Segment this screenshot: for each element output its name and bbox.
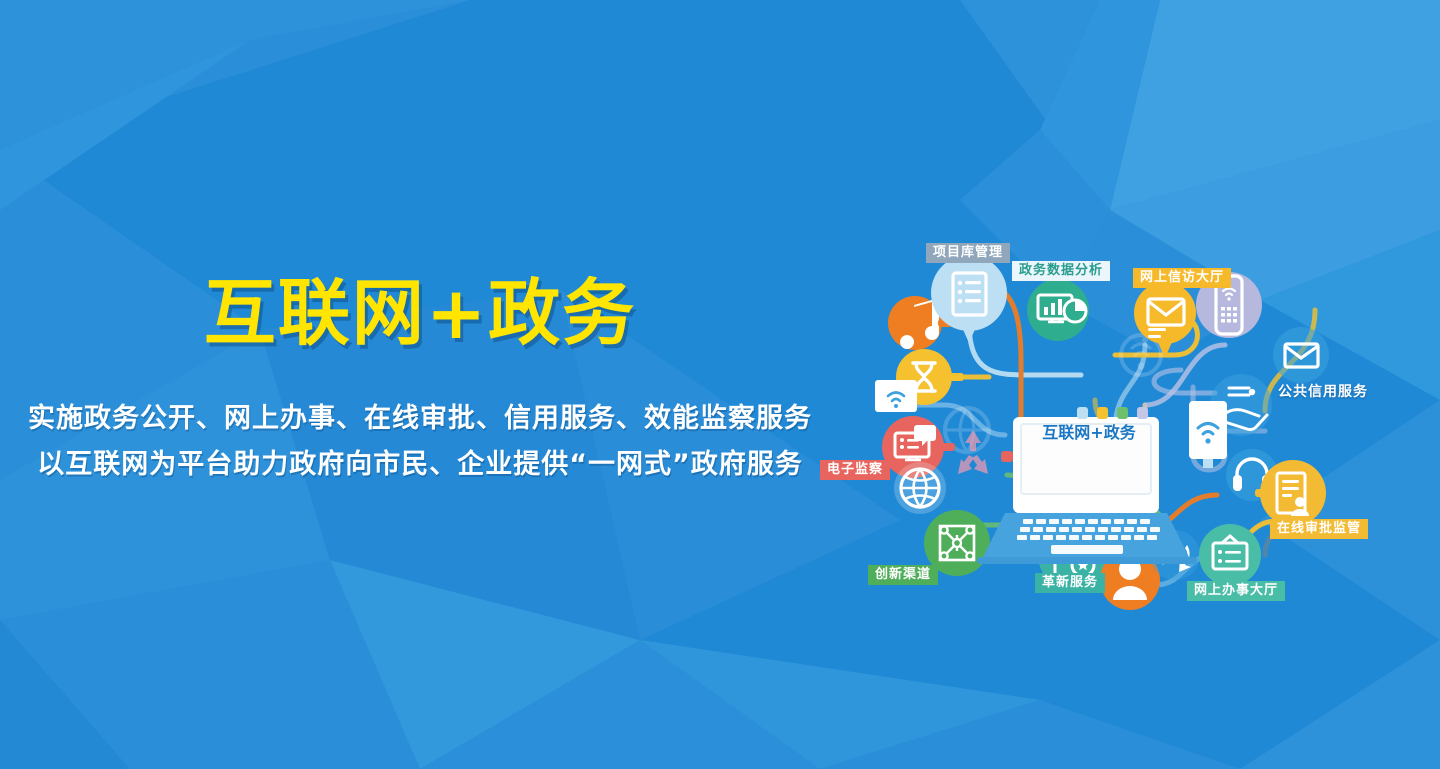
wifi-card-icon: [875, 380, 917, 412]
page-title: 互联网+政务: [0, 276, 840, 352]
mail-icon: [1273, 327, 1329, 383]
laptop-screen-caption: 互联网+政务: [1024, 419, 1154, 443]
wifi-tablet-icon: [1189, 401, 1227, 468]
label-project-library: 项目库管理: [926, 243, 1010, 263]
document-list-icon: [931, 255, 1007, 343]
subtitle-line-2: 以互联网为平台助力政府向市民、企业提供“一网式”政府服务: [0, 442, 840, 488]
label-public-credit-service: 公共信用服务: [1278, 385, 1368, 399]
globe-icon: [894, 462, 946, 514]
chart-monitor-icon: [1027, 279, 1089, 341]
label-innovation-service: 革新服务: [1035, 573, 1105, 593]
label-online-approval-supervision: 在线审批监管: [1270, 519, 1368, 539]
subtitle-line-1: 实施政务公开、网上办事、在线审批、信用服务、效能监察服务: [0, 396, 840, 442]
list-card-icon: [1199, 524, 1261, 586]
hero-banner: 互联网+政务 实施政务公开、网上办事、在线审批、信用服务、效能监察服务 以互联网…: [0, 0, 1440, 769]
label-online-petition-hall: 网上信访大厅: [1133, 268, 1231, 288]
label-online-service-hall: 网上办事大厅: [1187, 581, 1285, 601]
label-innovation-channel: 创新渠道: [868, 565, 938, 585]
hero-copy: 互联网+政务 实施政务公开、网上办事、在线审批、信用服务、效能监察服务 以互联网…: [0, 276, 840, 488]
label-government-data-analysis: 政务数据分析: [1012, 261, 1110, 281]
label-electronic-supervision: 电子监察: [820, 460, 890, 480]
